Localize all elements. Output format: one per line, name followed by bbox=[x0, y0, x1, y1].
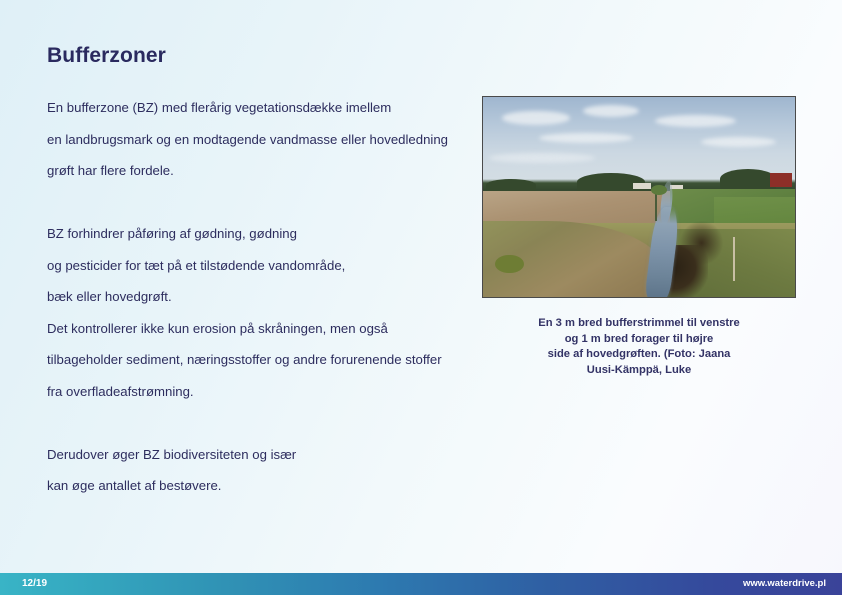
body-line: grøft har flere fordele. bbox=[47, 155, 472, 187]
photo-white-building bbox=[633, 183, 652, 189]
paragraph-3: Derudover øger BZ biodiversiteten og isæ… bbox=[47, 439, 472, 502]
body-line: En bufferzone (BZ) med flerårig vegetati… bbox=[47, 92, 472, 124]
body-line: en landbrugsmark og en modtagende vandma… bbox=[47, 124, 472, 156]
photo-tree-clump bbox=[720, 169, 776, 189]
photo-cloud bbox=[489, 153, 595, 163]
page-number: 12/19 bbox=[22, 573, 47, 595]
body-line: kan øge antallet af bestøvere. bbox=[47, 470, 472, 502]
paragraph-spacer bbox=[47, 187, 472, 219]
body-line: Derudover øger BZ biodiversiteten og isæ… bbox=[47, 439, 472, 471]
body-line: tilbageholder sediment, næringsstoffer o… bbox=[47, 344, 472, 376]
photo-bush bbox=[651, 185, 667, 195]
photo-bush bbox=[495, 255, 523, 273]
photo-cloud bbox=[539, 133, 633, 143]
caption-line: side af hovedgrøften. (Foto: Jaana bbox=[482, 347, 796, 363]
caption-line: En 3 m bred bufferstrimmel til venstre bbox=[482, 316, 796, 332]
body-line: og pesticider for tæt på et tilstødende … bbox=[47, 250, 472, 282]
photo-cloud bbox=[502, 111, 571, 125]
paragraph-1: En bufferzone (BZ) med flerårig vegetati… bbox=[47, 92, 472, 187]
photo-cloud bbox=[701, 137, 776, 147]
paragraph-2: BZ forhindrer påføring af gødning, gødni… bbox=[47, 218, 472, 407]
photo-caption: En 3 m bred bufferstrimmel til venstre o… bbox=[482, 316, 796, 378]
photo-fence-post bbox=[733, 237, 735, 281]
drainage-ditch-with-buffer-strip-photo bbox=[482, 96, 796, 298]
body-line: fra overfladeafstrømning. bbox=[47, 376, 472, 408]
paragraph-spacer bbox=[47, 407, 472, 439]
photo-red-barn bbox=[770, 173, 792, 187]
caption-line: og 1 m bred forager til højre bbox=[482, 332, 796, 348]
body-line: BZ forhindrer påføring af gødning, gødni… bbox=[47, 218, 472, 250]
body-line: Det kontrollerer ikke kun erosion på skr… bbox=[47, 313, 472, 345]
footer-url[interactable]: www.waterdrive.pl bbox=[743, 573, 826, 595]
photo-cloud bbox=[583, 105, 639, 117]
photo-cloud bbox=[655, 115, 736, 127]
page-title: Bufferzoner bbox=[47, 44, 166, 68]
body-line: bæk eller hovedgrøft. bbox=[47, 281, 472, 313]
body-text-block: En bufferzone (BZ) med flerårig vegetati… bbox=[47, 92, 472, 502]
photo-tree-clump bbox=[486, 179, 536, 191]
presentation-slide: Bufferzoner En bufferzone (BZ) med flerå… bbox=[0, 0, 842, 595]
photo-container bbox=[482, 96, 796, 298]
footer-bar: 12/19 www.waterdrive.pl bbox=[0, 573, 842, 595]
caption-line: Uusi-Kämppä, Luke bbox=[482, 363, 796, 379]
